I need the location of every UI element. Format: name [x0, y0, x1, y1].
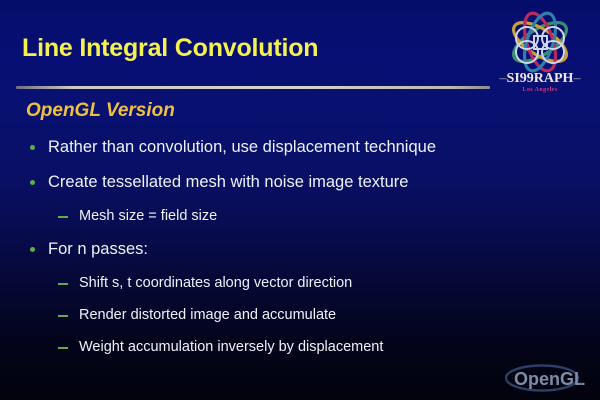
bullet-item: Shift s, t coordinates along vector dire…	[0, 269, 600, 301]
bullet-text: For n passes:	[48, 234, 148, 264]
siggraph-location: Los Angeles	[488, 87, 592, 93]
opengl-logo: OpenGL .	[502, 362, 588, 394]
bullet-item: Rather than convolution, use displacemen…	[0, 132, 600, 167]
bullet-dot-icon	[30, 145, 35, 150]
bullet-dash-icon	[58, 216, 68, 218]
bullet-text: Weight accumulation inversely by displac…	[79, 333, 383, 361]
bullet-text: Mesh size = field size	[79, 202, 217, 230]
bullet-list: Rather than convolution, use displacemen…	[0, 132, 600, 365]
opengl-logo-icon: OpenGL .	[502, 362, 588, 394]
bullet-dash-icon	[58, 347, 68, 349]
bullet-item: Render distorted image and accumulate	[0, 301, 600, 333]
bullet-item: For n passes:	[0, 234, 600, 269]
bullet-text: Render distorted image and accumulate	[79, 301, 336, 329]
bullet-dot-icon	[30, 180, 35, 185]
opengl-trademark: .	[579, 372, 583, 388]
siggraph-dash-right: –	[573, 71, 580, 86]
bullet-text: Create tessellated mesh with noise image…	[48, 167, 408, 197]
siggraph-dash-left: –	[500, 71, 507, 86]
opengl-wordmark: OpenGL	[514, 369, 585, 389]
bullet-dot-icon	[30, 247, 35, 252]
bullet-item: Weight accumulation inversely by displac…	[0, 333, 600, 365]
slide: Line Integral Convolution –SI99RAPH– Los…	[0, 0, 600, 400]
bullet-text: Shift s, t coordinates along vector dire…	[79, 269, 352, 297]
siggraph-wordmark-text: SI99RAPH	[507, 71, 574, 86]
bullet-dash-icon	[58, 315, 68, 317]
bullet-item: Create tessellated mesh with noise image…	[0, 167, 600, 202]
title-divider	[16, 86, 490, 89]
siggraph-rings-icon	[494, 8, 586, 76]
bullet-text: Rather than convolution, use displacemen…	[48, 132, 436, 162]
page-title: Line Integral Convolution	[22, 34, 318, 63]
slide-subtitle: OpenGL Version	[26, 100, 175, 122]
siggraph-logo: –SI99RAPH– Los Angeles	[488, 8, 592, 100]
bullet-dash-icon	[58, 283, 68, 285]
bullet-item: Mesh size = field size	[0, 202, 600, 234]
siggraph-wordmark: –SI99RAPH–	[488, 72, 592, 86]
